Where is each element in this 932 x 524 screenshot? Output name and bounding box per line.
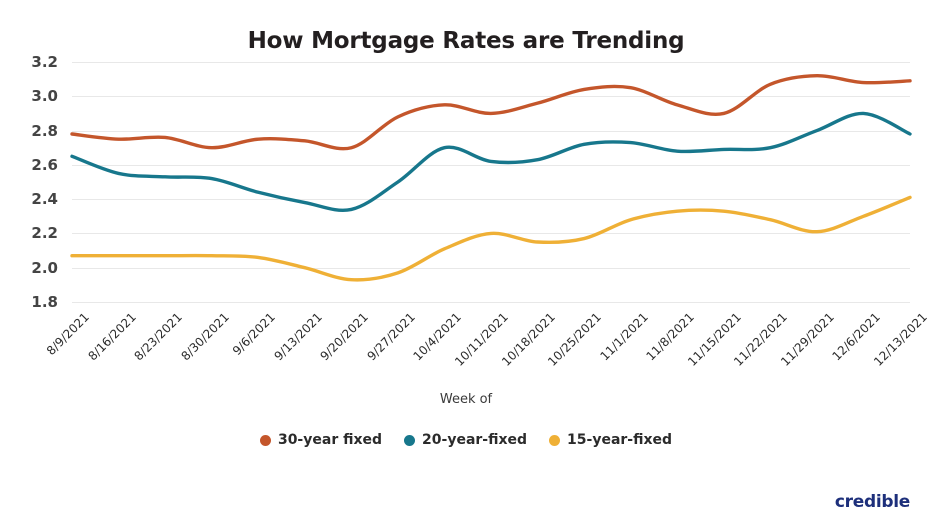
legend-item[interactable]: 15-year-fixed	[549, 432, 672, 448]
legend-item[interactable]: 30-year fixed	[260, 432, 382, 448]
series-line	[72, 76, 910, 149]
plot-area	[72, 62, 910, 302]
mortgage-rate-chart: How Mortgage Rates are Trending Interest…	[0, 0, 932, 524]
y-axis-tick-label: 2.6	[12, 156, 58, 174]
y-axis-tick-label: 2.0	[12, 259, 58, 277]
legend-color-dot-icon	[549, 435, 560, 446]
x-axis-title: Week of	[0, 392, 932, 407]
legend-color-dot-icon	[404, 435, 415, 446]
y-axis-tick-label: 2.8	[12, 122, 58, 140]
y-axis-tick-label: 3.2	[12, 53, 58, 71]
legend-item[interactable]: 20-year-fixed	[404, 432, 527, 448]
series-line	[72, 197, 910, 279]
y-axis-tick-label: 2.2	[12, 224, 58, 242]
legend-color-dot-icon	[260, 435, 271, 446]
series-line	[72, 113, 910, 210]
legend-item-label: 30-year fixed	[278, 432, 382, 448]
gridline	[72, 302, 910, 303]
y-axis-tick-label: 3.0	[12, 87, 58, 105]
legend-item-label: 15-year-fixed	[567, 432, 672, 448]
chart-title: How Mortgage Rates are Trending	[0, 28, 932, 54]
chart-legend: 30-year fixed20-year-fixed15-year-fixed	[0, 432, 932, 448]
y-axis-tick-label: 2.4	[12, 190, 58, 208]
legend-item-label: 20-year-fixed	[422, 432, 527, 448]
series-lines	[72, 62, 910, 302]
credible-logo: credible	[835, 492, 910, 512]
y-axis-tick-label: 1.8	[12, 293, 58, 311]
